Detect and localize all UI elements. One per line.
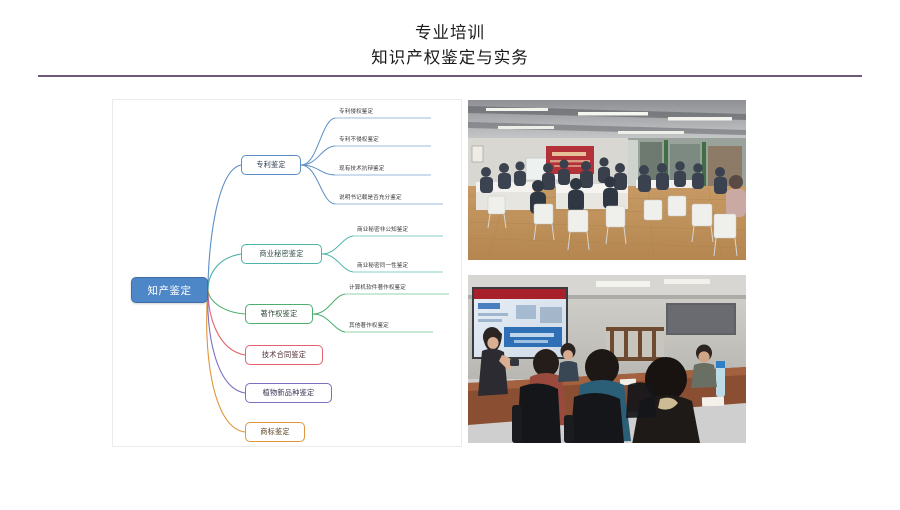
mindmap-branch-patent-label: 专利鉴定	[256, 160, 286, 170]
mindmap-root-node[interactable]: 知产鉴定	[131, 277, 208, 303]
mindmap-branch-trademark[interactable]: 商标鉴定	[245, 422, 305, 442]
mindmap-leaf-patent-2: 专利不侵权鉴定	[339, 136, 379, 145]
training-room-photo	[468, 100, 746, 260]
mindmap-root-label: 知产鉴定	[148, 283, 192, 298]
conference-room-photo	[468, 275, 746, 443]
mindmap-branch-plant-variety-label: 植物新品种鉴定	[263, 388, 315, 398]
training-room-photo-content	[468, 100, 746, 260]
mindmap-leaf-patent-4: 说明书记载是否充分鉴定	[339, 194, 402, 203]
header-divider	[38, 75, 862, 77]
mindmap-leaf-copyright-2: 其他著作权鉴定	[349, 322, 389, 331]
conference-room-photo-content	[468, 275, 746, 443]
mindmap-branch-trade-secret[interactable]: 商业秘密鉴定	[241, 244, 322, 264]
slide-header: 专业培训 知识产权鉴定与实务	[0, 20, 900, 70]
mindmap-branch-tech-contract[interactable]: 技术合同鉴定	[245, 345, 323, 365]
mindmap-branch-copyright[interactable]: 著作权鉴定	[245, 304, 313, 324]
page-title-line-1: 专业培训	[0, 20, 900, 45]
mindmap-branch-plant-variety[interactable]: 植物新品种鉴定	[245, 383, 332, 403]
mindmap-leaf-copyright-1: 计算机软件著作权鉴定	[349, 284, 406, 293]
mindmap-leaf-patent-1: 专利侵权鉴定	[339, 108, 373, 117]
mindmap-leaf-trade-secret-1: 商业秘密非公知鉴定	[357, 226, 408, 235]
mindmap-branch-trade-secret-label: 商业秘密鉴定	[259, 249, 303, 259]
mindmap-leaf-trade-secret-2: 商业秘密同一性鉴定	[357, 262, 408, 271]
mindmap-branch-copyright-label: 著作权鉴定	[261, 309, 298, 319]
mindmap-branch-tech-contract-label: 技术合同鉴定	[262, 350, 306, 360]
page-title-line-2: 知识产权鉴定与实务	[0, 45, 900, 70]
mindmap-leaf-patent-3: 现有技术抗辩鉴定	[339, 165, 385, 174]
mindmap-branch-patent[interactable]: 专利鉴定	[241, 155, 301, 175]
mindmap-panel: 知产鉴定 专利鉴定 专利侵权鉴定 专利不侵权鉴定 现有技术抗辩鉴定 说明书记载是…	[112, 99, 462, 447]
mindmap-branch-trademark-label: 商标鉴定	[260, 427, 290, 437]
